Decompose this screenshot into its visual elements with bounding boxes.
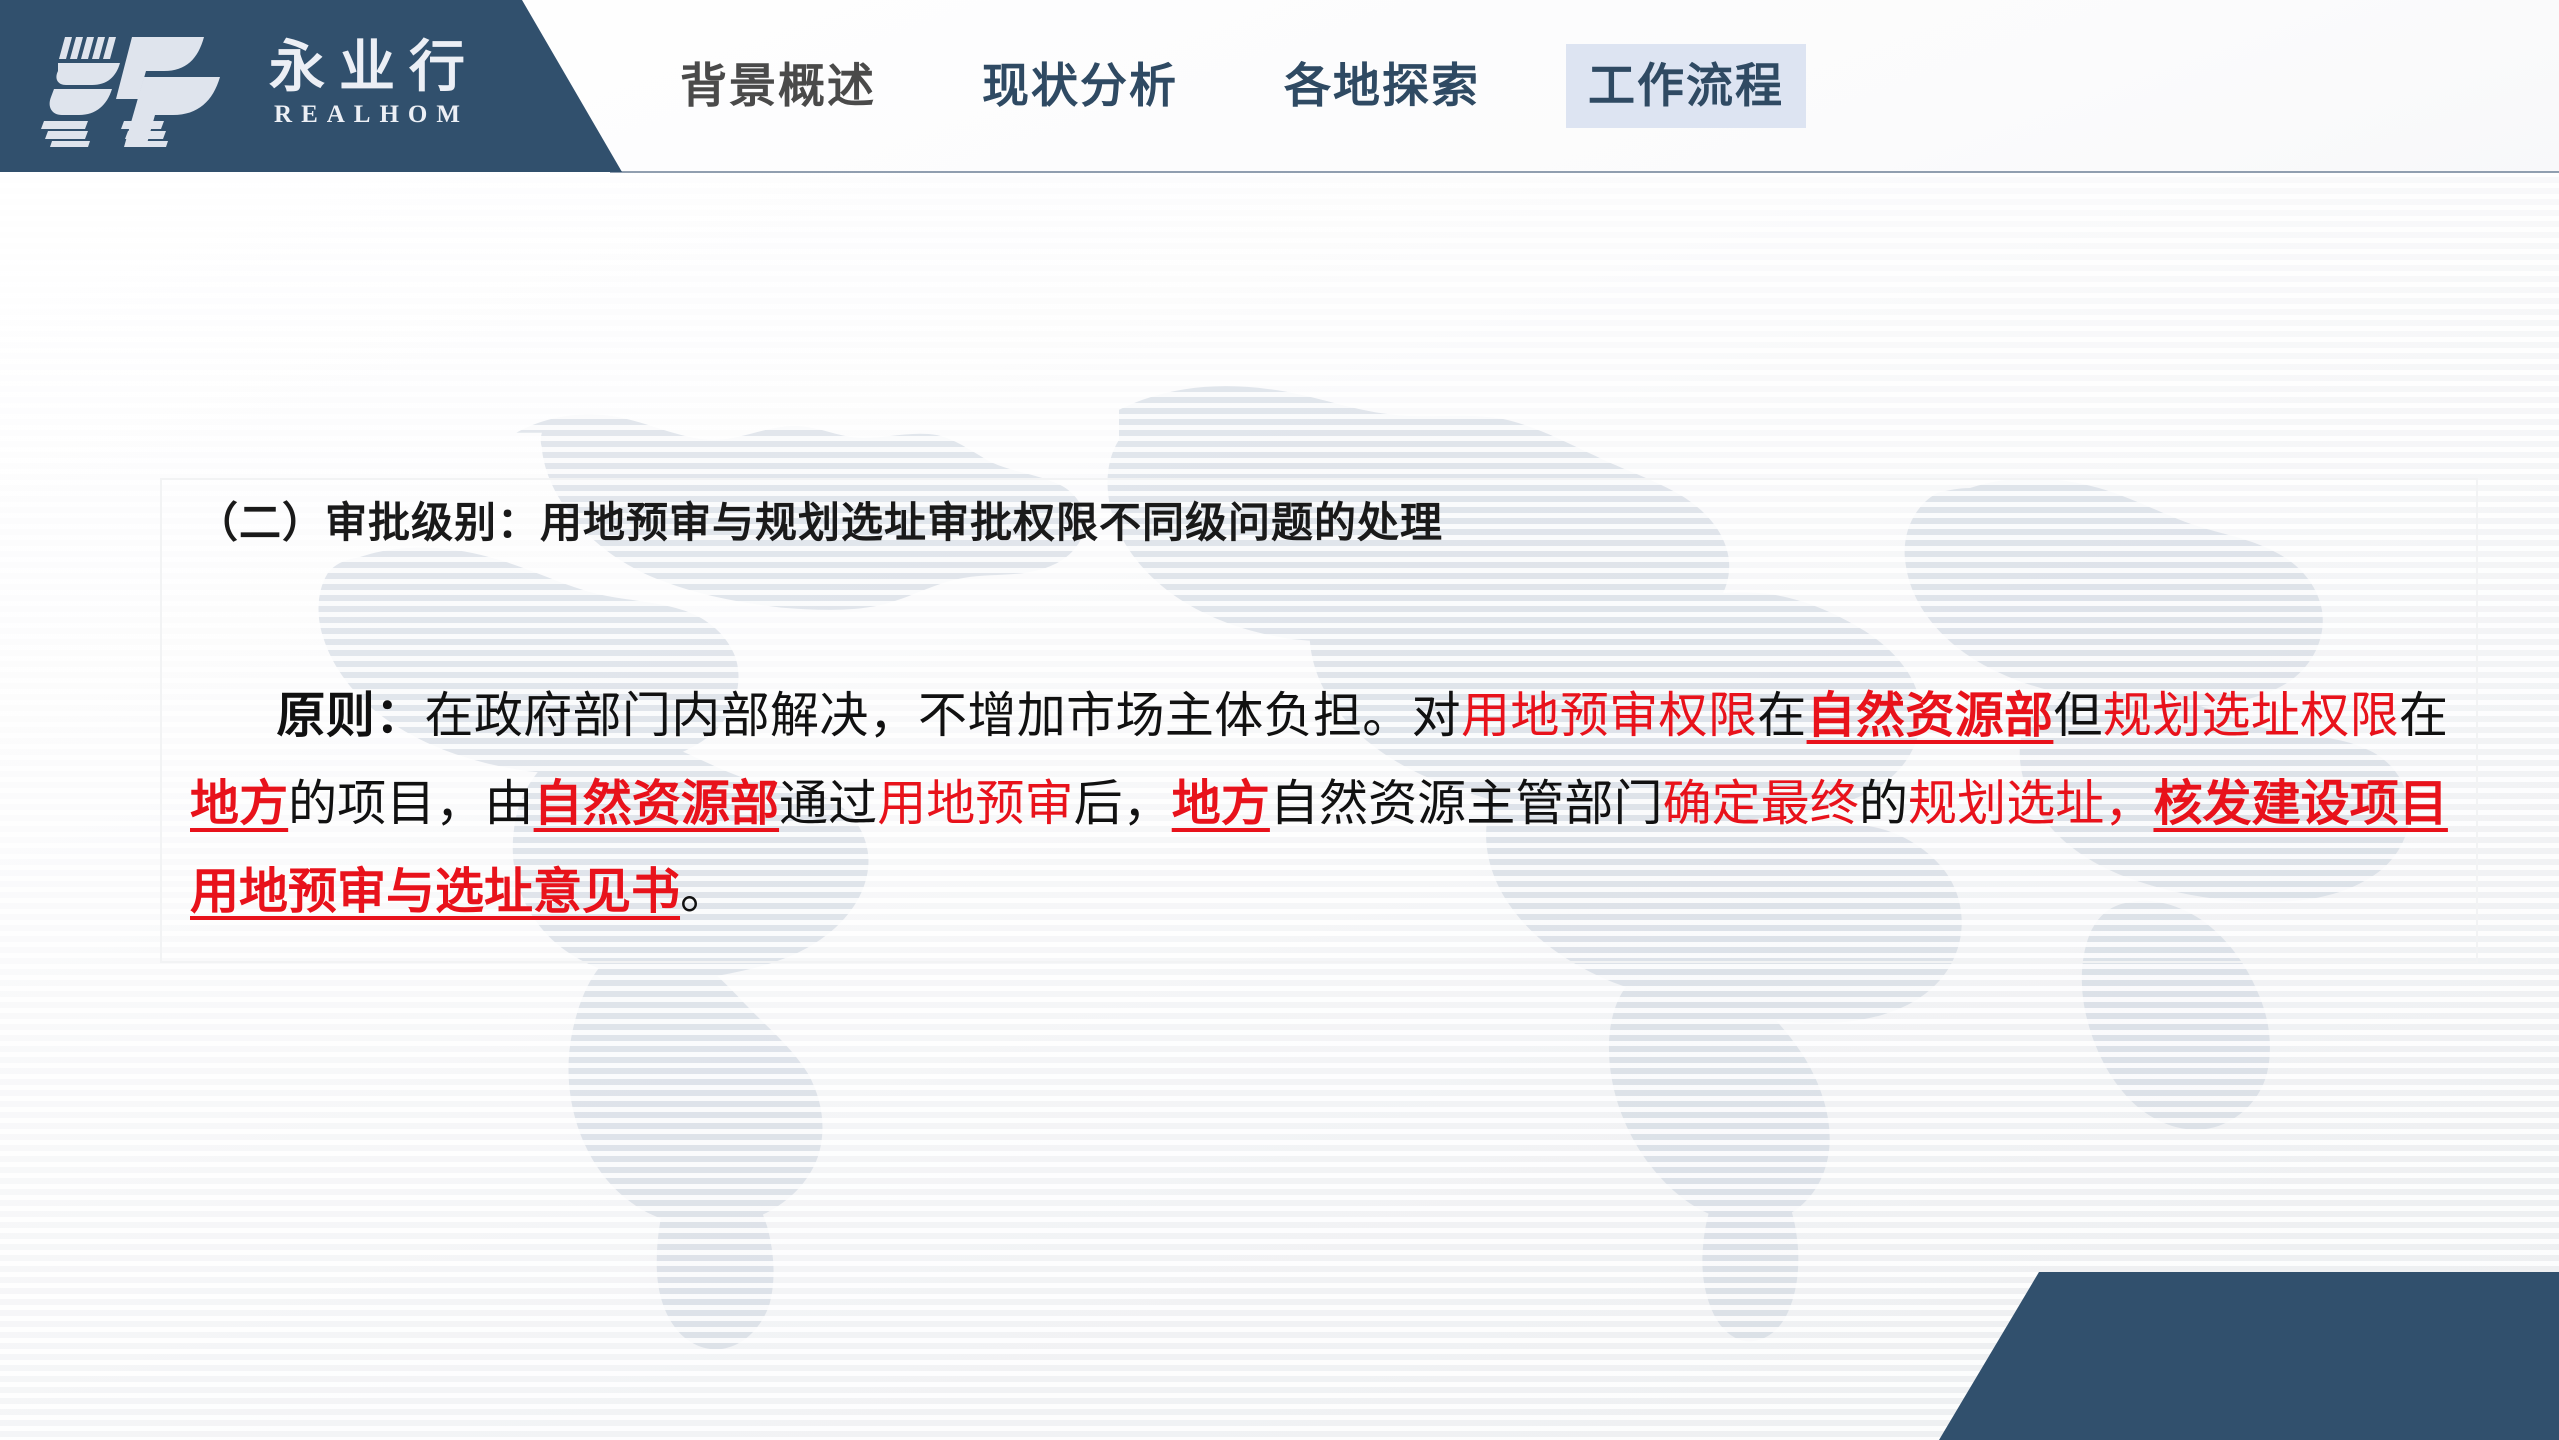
run-plain-6: 通过 <box>779 777 877 831</box>
run-plain-7: 后， <box>1074 777 1172 831</box>
run-plain-8: 自然资源主管部门 <box>1270 777 1663 831</box>
run-emph-local-2: 地方 <box>1172 777 1270 831</box>
run-plain-4: 在 <box>2399 689 2448 743</box>
run-plain-3: 但 <box>2053 689 2102 743</box>
section-heading: （二）审批级别：用地预审与规划选址审批权限不同级问题的处理 <box>196 489 1443 550</box>
logo-chinese-name: 永业行 <box>255 39 479 98</box>
tab-regional-exploration[interactable]: 各地探索 <box>1264 46 1500 125</box>
logo-english-name: REALHOM <box>265 101 469 129</box>
body-paragraph: 原则：在政府部门内部解决，不增加市场主体负担。对用地预审权限在自然资源部但规划选… <box>190 672 2448 936</box>
tab-work-process[interactable]: 工作流程 <box>1566 44 1806 127</box>
run-emph-ministry-1: 自然资源部 <box>1807 689 2054 743</box>
run-red-land-preapproval-authority: 用地预审权限 <box>1461 689 1757 743</box>
yh-monogram-logo-icon <box>36 25 251 147</box>
run-plain-5: 的项目，由 <box>288 777 533 831</box>
run-plain-1: 在政府部门内部解决，不增加市场主体负担。对 <box>424 689 1461 743</box>
tab-background-overview[interactable]: 背景概述 <box>660 46 896 125</box>
corner-decoration <box>1939 1272 2559 1440</box>
run-principle-label: 原则： <box>276 689 424 743</box>
nav-tabs: 背景概述 现状分析 各地探索 工作流程 <box>660 0 1806 172</box>
tab-current-analysis[interactable]: 现状分析 <box>962 46 1198 125</box>
slide: 永业行 REALHOM 背景概述 现状分析 各地探索 工作流程 （二）审批级别：… <box>0 0 2559 1440</box>
slide-header: 永业行 REALHOM 背景概述 现状分析 各地探索 工作流程 <box>0 0 2559 176</box>
run-plain-9: 的 <box>1859 777 1908 831</box>
run-red-planning-site: 规划选址， <box>1908 777 2153 831</box>
run-plain-10: 。 <box>680 865 729 919</box>
run-red-planning-site-authority: 规划选址权限 <box>2103 689 2399 743</box>
run-red-land-preapproval: 用地预审 <box>877 777 1073 831</box>
run-red-final-determination: 确定最终 <box>1663 777 1859 831</box>
run-emph-ministry-2: 自然资源部 <box>534 777 779 831</box>
logo-wordmark: 永业行 REALHOM <box>255 39 479 134</box>
logo-banner: 永业行 REALHOM <box>0 0 640 172</box>
run-plain-2: 在 <box>1757 689 1806 743</box>
run-emph-local-1: 地方 <box>190 777 288 831</box>
